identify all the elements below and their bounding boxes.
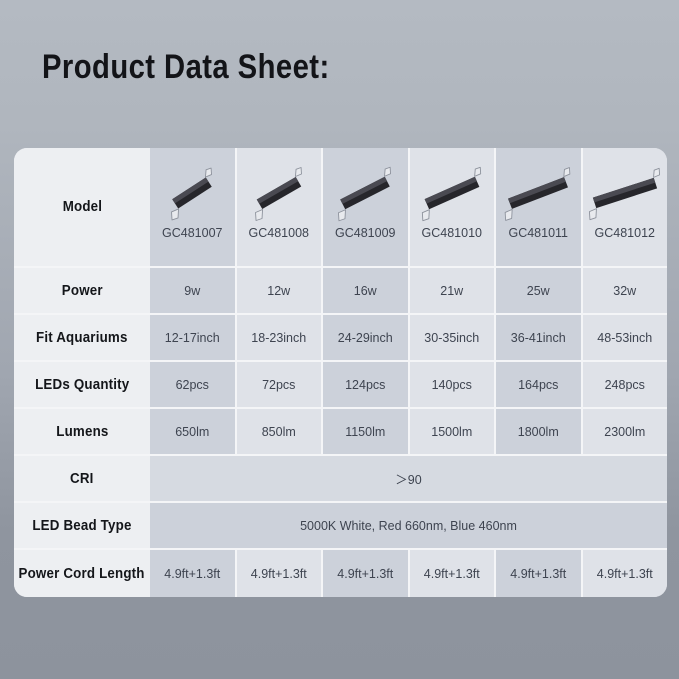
data-cell: 4.9ft+1.3ft <box>496 550 583 597</box>
led-light-bar-icon <box>585 162 665 224</box>
model-cell: GC481010 <box>410 148 497 266</box>
merged-value-cell: 5000K White, Red 660nm, Blue 460nm <box>150 503 667 548</box>
row-label-text: Fit Aquariums <box>36 330 128 346</box>
row-label-text: CRI <box>70 471 94 487</box>
data-cell: 24-29inch <box>323 315 410 360</box>
led-light-bar-icon <box>325 162 405 224</box>
row-label-text: Power <box>62 283 103 299</box>
row-label-leds-quantity: LEDs Quantity <box>14 362 150 407</box>
row-label-cri: CRI <box>14 456 150 501</box>
data-cell: 4.9ft+1.3ft <box>237 550 324 597</box>
page-title: Product Data Sheet: <box>42 48 330 87</box>
data-cell: 36-41inch <box>496 315 583 360</box>
data-cell: 4.9ft+1.3ft <box>323 550 410 597</box>
data-cell: 12w <box>237 268 324 313</box>
data-cell: 4.9ft+1.3ft <box>410 550 497 597</box>
model-number: GC481012 <box>595 226 655 240</box>
data-cell: 9w <box>150 268 237 313</box>
product-data-sheet-table: Model GC481007 GC481008 GC481009 GC48101… <box>14 148 667 597</box>
data-cell: 30-35inch <box>410 315 497 360</box>
table-row: LED Bead Type5000K White, Red 660nm, Blu… <box>14 503 667 550</box>
data-cell: 18-23inch <box>237 315 324 360</box>
data-cell: 1150lm <box>323 409 410 454</box>
table-row: Lumens650lm850lm1150lm1500lm1800lm2300lm <box>14 409 667 456</box>
model-cell: GC481011 <box>496 148 583 266</box>
data-cell: 248pcs <box>583 362 668 407</box>
data-cell: 124pcs <box>323 362 410 407</box>
data-cell: 32w <box>583 268 668 313</box>
led-light-bar-icon <box>498 162 578 224</box>
row-label-model: Model <box>14 148 150 266</box>
data-cell: 4.9ft+1.3ft <box>150 550 237 597</box>
table-row: LEDs Quantity62pcs72pcs124pcs140pcs164pc… <box>14 362 667 409</box>
data-cell: 650lm <box>150 409 237 454</box>
row-label-text: Lumens <box>56 424 108 440</box>
model-cell: GC481007 <box>150 148 237 266</box>
row-label-lumens: Lumens <box>14 409 150 454</box>
row-label-led-bead-type: LED Bead Type <box>14 503 150 548</box>
model-number: GC481009 <box>335 226 395 240</box>
led-light-bar-icon <box>412 162 492 224</box>
row-label-fit-aquariums: Fit Aquariums <box>14 315 150 360</box>
model-cell: GC481009 <box>323 148 410 266</box>
data-cell: 1800lm <box>496 409 583 454</box>
row-label-power: Power <box>14 268 150 313</box>
data-cell: 164pcs <box>496 362 583 407</box>
table-row: CRI＞90 <box>14 456 667 503</box>
data-cell: 2300lm <box>583 409 668 454</box>
model-cell: GC481008 <box>237 148 324 266</box>
data-cell: 25w <box>496 268 583 313</box>
data-cell: 72pcs <box>237 362 324 407</box>
merged-value-cell: ＞90 <box>150 456 667 501</box>
row-label-text: LEDs Quantity <box>35 377 129 393</box>
model-number: GC481011 <box>508 226 568 240</box>
model-cell: GC481012 <box>583 148 668 266</box>
data-cell: 16w <box>323 268 410 313</box>
table-row: Model GC481007 GC481008 GC481009 GC48101… <box>14 148 667 268</box>
data-cell: 48-53inch <box>583 315 668 360</box>
data-cell: 4.9ft+1.3ft <box>583 550 668 597</box>
row-label-text: Model <box>62 199 101 215</box>
data-cell: 1500lm <box>410 409 497 454</box>
data-cell: 12-17inch <box>150 315 237 360</box>
row-label-text: Power Cord Length <box>19 566 145 582</box>
table-row: Power Cord Length4.9ft+1.3ft4.9ft+1.3ft4… <box>14 550 667 597</box>
table-row: Fit Aquariums12-17inch18-23inch24-29inch… <box>14 315 667 362</box>
led-light-bar-icon <box>239 162 319 224</box>
model-number: GC481007 <box>162 226 222 240</box>
model-number: GC481008 <box>249 226 309 240</box>
led-light-bar-icon <box>152 162 232 224</box>
data-cell: 62pcs <box>150 362 237 407</box>
model-number: GC481010 <box>422 226 482 240</box>
data-cell: 140pcs <box>410 362 497 407</box>
row-label-text: LED Bead Type <box>32 518 131 534</box>
row-label-power-cord-length: Power Cord Length <box>14 550 150 597</box>
table-row: Power9w12w16w21w25w32w <box>14 268 667 315</box>
data-cell: 850lm <box>237 409 324 454</box>
data-cell: 21w <box>410 268 497 313</box>
